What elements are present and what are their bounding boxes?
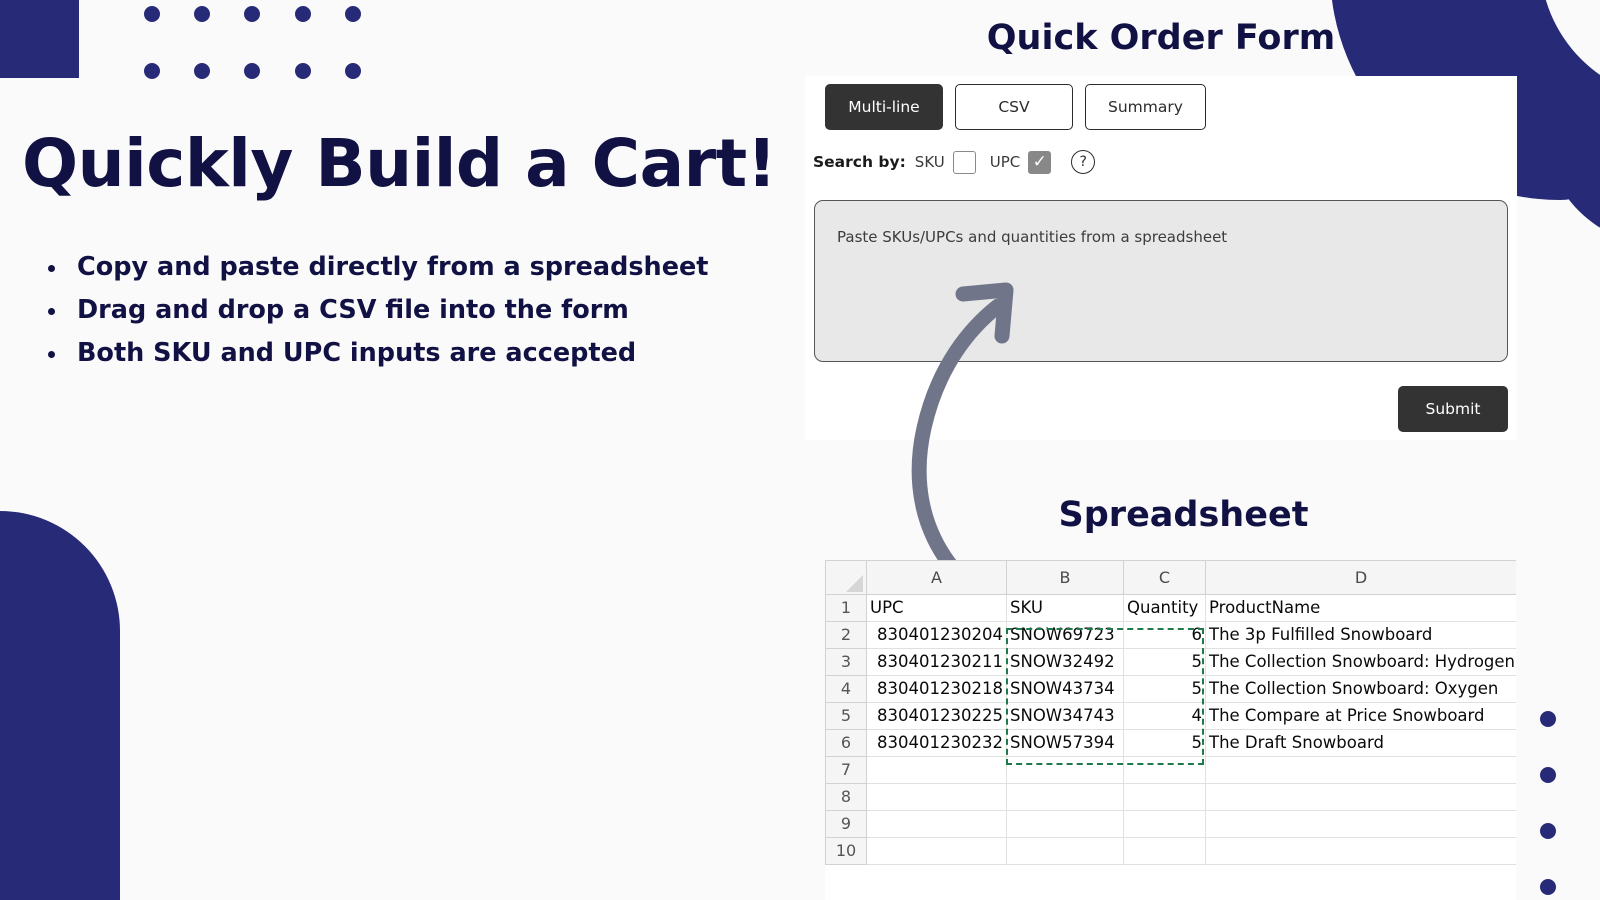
- spreadsheet-grid[interactable]: A B C D 1UPCSKUQuantityProductName283040…: [825, 560, 1516, 900]
- table-cell[interactable]: The Collection Snowboard: Oxygen: [1206, 675, 1517, 702]
- table-cell[interactable]: [1007, 837, 1124, 864]
- decorative-dot: [1540, 879, 1556, 895]
- table-cell[interactable]: 830401230225: [867, 702, 1007, 729]
- table-row: 10: [826, 837, 1517, 864]
- table-cell[interactable]: [1007, 810, 1124, 837]
- table-cell[interactable]: The Collection Snowboard: Hydrogen: [1206, 648, 1517, 675]
- decorative-dot: [244, 63, 260, 79]
- table-cell[interactable]: 5: [1124, 729, 1206, 756]
- form-mode-tabs: Multi-line CSV Summary: [825, 84, 1206, 130]
- decorative-dot: [1540, 711, 1556, 727]
- decorative-dot: [295, 6, 311, 22]
- table-cell[interactable]: SNOW43734: [1007, 675, 1124, 702]
- table-cell[interactable]: SNOW34743: [1007, 702, 1124, 729]
- table-cell[interactable]: SNOW32492: [1007, 648, 1124, 675]
- tab-summary[interactable]: Summary: [1085, 84, 1206, 130]
- table-cell[interactable]: 830401230232: [867, 729, 1007, 756]
- table-cell[interactable]: [1124, 783, 1206, 810]
- table-row: 1UPCSKUQuantityProductName: [826, 594, 1517, 621]
- table-cell[interactable]: [867, 756, 1007, 783]
- sku-label: SKU: [915, 153, 945, 171]
- select-all-corner[interactable]: [826, 561, 867, 594]
- paste-textarea[interactable]: Paste SKUs/UPCs and quantities from a sp…: [814, 200, 1508, 362]
- slide-canvas: Quickly Build a Cart! Copy and paste dir…: [0, 0, 1600, 900]
- upc-checkbox[interactable]: [1028, 151, 1051, 174]
- list-item: Copy and paste directly from a spreadshe…: [44, 246, 764, 289]
- table-cell[interactable]: 4: [1124, 702, 1206, 729]
- table-cell[interactable]: [1206, 756, 1517, 783]
- row-number[interactable]: 9: [826, 810, 867, 837]
- table-cell[interactable]: 5: [1124, 675, 1206, 702]
- table-cell[interactable]: [1007, 756, 1124, 783]
- table-cell[interactable]: 5: [1124, 648, 1206, 675]
- table-cell[interactable]: [867, 783, 1007, 810]
- spreadsheet-title: Spreadsheet: [805, 495, 1562, 535]
- column-header-d[interactable]: D: [1206, 561, 1517, 594]
- row-number[interactable]: 5: [826, 702, 867, 729]
- row-number[interactable]: 1: [826, 594, 867, 621]
- table-cell[interactable]: [1206, 810, 1517, 837]
- table-cell[interactable]: [1124, 810, 1206, 837]
- table-cell[interactable]: The Compare at Price Snowboard: [1206, 702, 1517, 729]
- decorative-dot: [1540, 767, 1556, 783]
- row-number[interactable]: 8: [826, 783, 867, 810]
- row-number[interactable]: 10: [826, 837, 867, 864]
- table-cell[interactable]: 830401230211: [867, 648, 1007, 675]
- table-cell[interactable]: [867, 810, 1007, 837]
- table-row: 5830401230225SNOW347434The Compare at Pr…: [826, 702, 1517, 729]
- feature-bullet-list: Copy and paste directly from a spreadshe…: [44, 246, 764, 375]
- table-cell[interactable]: 830401230218: [867, 675, 1007, 702]
- table-row: 9: [826, 810, 1517, 837]
- table-cell[interactable]: SNOW57394: [1007, 729, 1124, 756]
- row-number[interactable]: 4: [826, 675, 867, 702]
- sku-checkbox[interactable]: [953, 151, 976, 174]
- table-cell[interactable]: ProductName: [1206, 594, 1517, 621]
- decorative-dot: [345, 63, 361, 79]
- page-title: Quickly Build a Cart!: [22, 128, 776, 201]
- table-cell[interactable]: [1206, 783, 1517, 810]
- list-item: Drag and drop a CSV file into the form: [44, 289, 764, 332]
- column-header-row: A B C D: [826, 561, 1517, 594]
- search-by-label: Search by:: [813, 153, 906, 171]
- table-cell[interactable]: [1206, 837, 1517, 864]
- table-row: 7: [826, 756, 1517, 783]
- decorative-dot: [295, 63, 311, 79]
- table-cell[interactable]: SKU: [1007, 594, 1124, 621]
- row-number[interactable]: 2: [826, 621, 867, 648]
- table-row: 8: [826, 783, 1517, 810]
- table-cell[interactable]: SNOW69723: [1007, 621, 1124, 648]
- decorative-dot: [144, 6, 160, 22]
- table-cell[interactable]: The Draft Snowboard: [1206, 729, 1517, 756]
- decorative-dot: [144, 63, 160, 79]
- decorative-dot: [244, 6, 260, 22]
- search-by-row: Search by: SKU UPC ?: [813, 150, 1095, 174]
- help-icon[interactable]: ?: [1071, 150, 1095, 174]
- decorative-dot: [194, 6, 210, 22]
- column-header-a[interactable]: A: [867, 561, 1007, 594]
- column-header-c[interactable]: C: [1124, 561, 1206, 594]
- decorative-curve-right: [1545, 100, 1600, 245]
- decorative-dot: [345, 6, 361, 22]
- table-cell[interactable]: [1007, 783, 1124, 810]
- table-row: 4830401230218SNOW437345The Collection Sn…: [826, 675, 1517, 702]
- table-cell[interactable]: 6: [1124, 621, 1206, 648]
- column-header-b[interactable]: B: [1007, 561, 1124, 594]
- table-cell[interactable]: [1124, 756, 1206, 783]
- table-cell[interactable]: 830401230204: [867, 621, 1007, 648]
- table-cell[interactable]: [1124, 837, 1206, 864]
- tab-multi-line[interactable]: Multi-line: [825, 84, 943, 130]
- row-number[interactable]: 7: [826, 756, 867, 783]
- table-cell[interactable]: [867, 837, 1007, 864]
- table-row: 6830401230232SNOW573945The Draft Snowboa…: [826, 729, 1517, 756]
- corner-triangle-icon: [846, 575, 863, 592]
- decorative-square-top-left: [0, 0, 79, 78]
- decorative-blob-bottom-left: [0, 511, 120, 900]
- table-row: 2830401230204SNOW697236The 3p Fulfilled …: [826, 621, 1517, 648]
- table-cell[interactable]: Quantity: [1124, 594, 1206, 621]
- quick-order-form-title: Quick Order Form: [805, 18, 1517, 58]
- row-number[interactable]: 6: [826, 729, 867, 756]
- row-number[interactable]: 3: [826, 648, 867, 675]
- quick-order-form-card: Multi-line CSV Summary Search by: SKU UP…: [805, 76, 1517, 440]
- list-item: Both SKU and UPC inputs are accepted: [44, 332, 764, 375]
- table-cell[interactable]: UPC: [867, 594, 1007, 621]
- table-cell[interactable]: The 3p Fulfilled Snowboard: [1206, 621, 1517, 648]
- submit-button[interactable]: Submit: [1398, 386, 1508, 432]
- upc-label: UPC: [990, 153, 1021, 171]
- tab-csv[interactable]: CSV: [955, 84, 1073, 130]
- decorative-dot: [1540, 823, 1556, 839]
- decorative-dot: [194, 63, 210, 79]
- table-row: 3830401230211SNOW324925The Collection Sn…: [826, 648, 1517, 675]
